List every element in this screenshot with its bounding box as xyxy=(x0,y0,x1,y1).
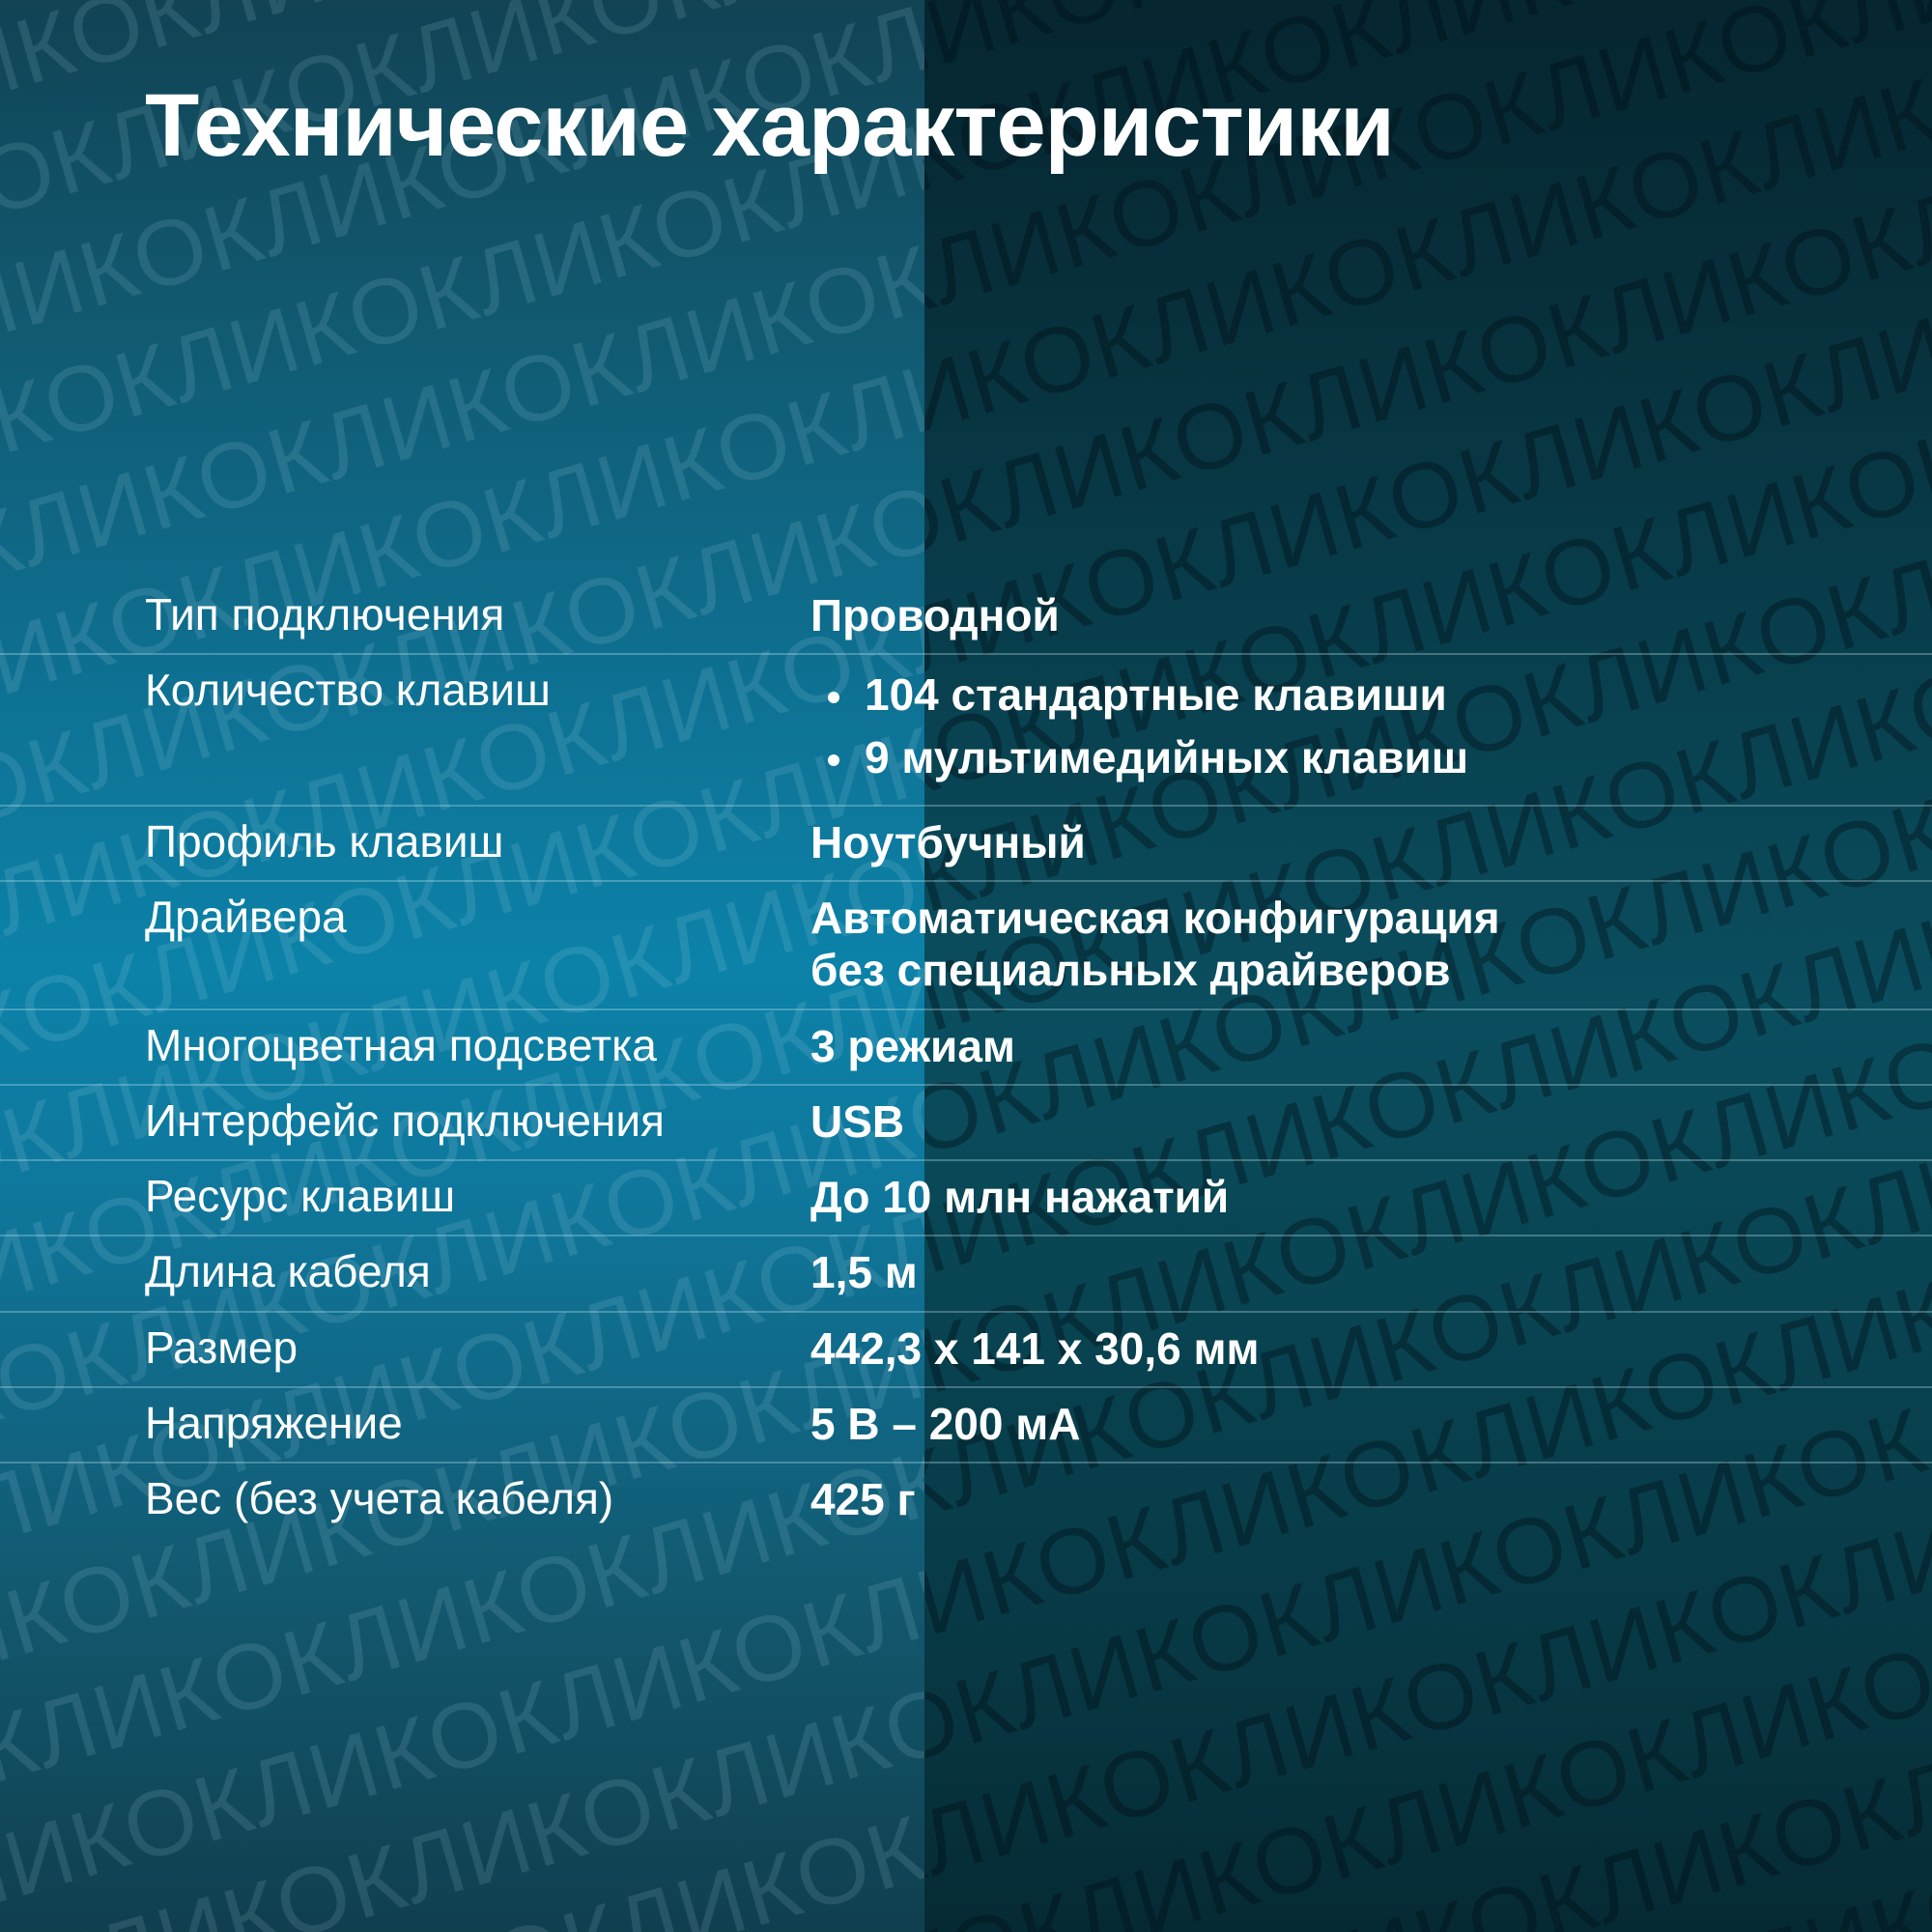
spec-value-text: 442,3 х 141 х 30,6 мм xyxy=(810,1322,1893,1375)
spec-value: 5 В – 200 мА xyxy=(780,1388,1932,1462)
spec-value-bullet-item: 9 мультимедийных клавиш xyxy=(810,731,1893,783)
spec-value: Ноутбучный xyxy=(780,807,1932,880)
page-title: Технические характеристики xyxy=(145,75,1394,177)
spec-row: Количество клавиш104 стандартные клавиши… xyxy=(0,653,1932,805)
spec-row: ДрайвераАвтоматическая конфигурациябез с… xyxy=(0,880,1932,1009)
spec-row: Длина кабеля1,5 м xyxy=(0,1235,1932,1310)
spec-row: Вес (без учета кабеля)425 г xyxy=(0,1462,1932,1537)
spec-sheet-page: КЛИКОКЛИКОКЛИКОКЛИКОКЛИКОКЛИКОКЛИКОКЛИКО… xyxy=(0,0,1932,1932)
spec-label: Интерфейс подключения xyxy=(0,1086,780,1156)
spec-row: Профиль клавишНоутбучный xyxy=(0,805,1932,880)
spec-value: 3 режиам xyxy=(780,1010,1932,1084)
spec-value-text: До 10 млн нажатий xyxy=(810,1171,1893,1223)
spec-label: Вес (без учета кабеля) xyxy=(0,1463,780,1534)
spec-value: 1,5 м xyxy=(780,1236,1932,1310)
spec-label: Драйвера xyxy=(0,882,780,952)
spec-value-text: Ноутбучный xyxy=(810,816,1893,868)
spec-row: Размер442,3 х 141 х 30,6 мм xyxy=(0,1311,1932,1386)
spec-row: Напряжение5 В – 200 мА xyxy=(0,1386,1932,1462)
spec-label: Ресурс клавиш xyxy=(0,1161,780,1232)
spec-value: USB xyxy=(780,1086,1932,1159)
spec-value: Автоматическая конфигурациябез специальн… xyxy=(780,882,1932,1009)
spec-value-text: 1,5 м xyxy=(810,1246,1893,1298)
spec-value: 104 стандартные клавиши9 мультимедийных … xyxy=(780,655,1932,805)
spec-value: 425 г xyxy=(780,1463,1932,1537)
spec-label: Многоцветная подсветка xyxy=(0,1010,780,1081)
spec-row: Тип подключенияПроводной xyxy=(0,580,1932,653)
spec-row: Многоцветная подсветка3 режиам xyxy=(0,1009,1932,1084)
spec-value-bullet-list: 104 стандартные клавиши9 мультимедийных … xyxy=(810,668,1893,783)
spec-value: Проводной xyxy=(780,580,1932,653)
spec-value-text: 425 г xyxy=(810,1473,1893,1525)
spec-row: Ресурс клавишДо 10 млн нажатий xyxy=(0,1159,1932,1235)
spec-label: Профиль клавиш xyxy=(0,807,780,877)
spec-label: Размер xyxy=(0,1313,780,1383)
spec-value-bullet-item: 104 стандартные клавиши xyxy=(810,668,1893,721)
spec-value-text: USB xyxy=(810,1095,1893,1148)
spec-value-text: 3 режиам xyxy=(810,1020,1893,1072)
spec-label: Длина кабеля xyxy=(0,1236,780,1307)
spec-value: До 10 млн нажатий xyxy=(780,1161,1932,1235)
spec-value-line: без специальных драйверов xyxy=(810,944,1893,996)
specification-table: Тип подключенияПроводнойКоличество клави… xyxy=(0,580,1932,1537)
spec-label: Напряжение xyxy=(0,1388,780,1459)
spec-value-line: Автоматическая конфигурация xyxy=(810,892,1893,944)
spec-label: Тип подключения xyxy=(0,580,780,650)
spec-value-text: 5 В – 200 мА xyxy=(810,1398,1893,1450)
spec-value: 442,3 х 141 х 30,6 мм xyxy=(780,1313,1932,1386)
content-layer: Технические характеристики Тип подключен… xyxy=(0,0,1932,1932)
spec-label: Количество клавиш xyxy=(0,655,780,725)
spec-row: Интерфейс подключенияUSB xyxy=(0,1084,1932,1159)
spec-value-text: Проводной xyxy=(810,589,1893,641)
